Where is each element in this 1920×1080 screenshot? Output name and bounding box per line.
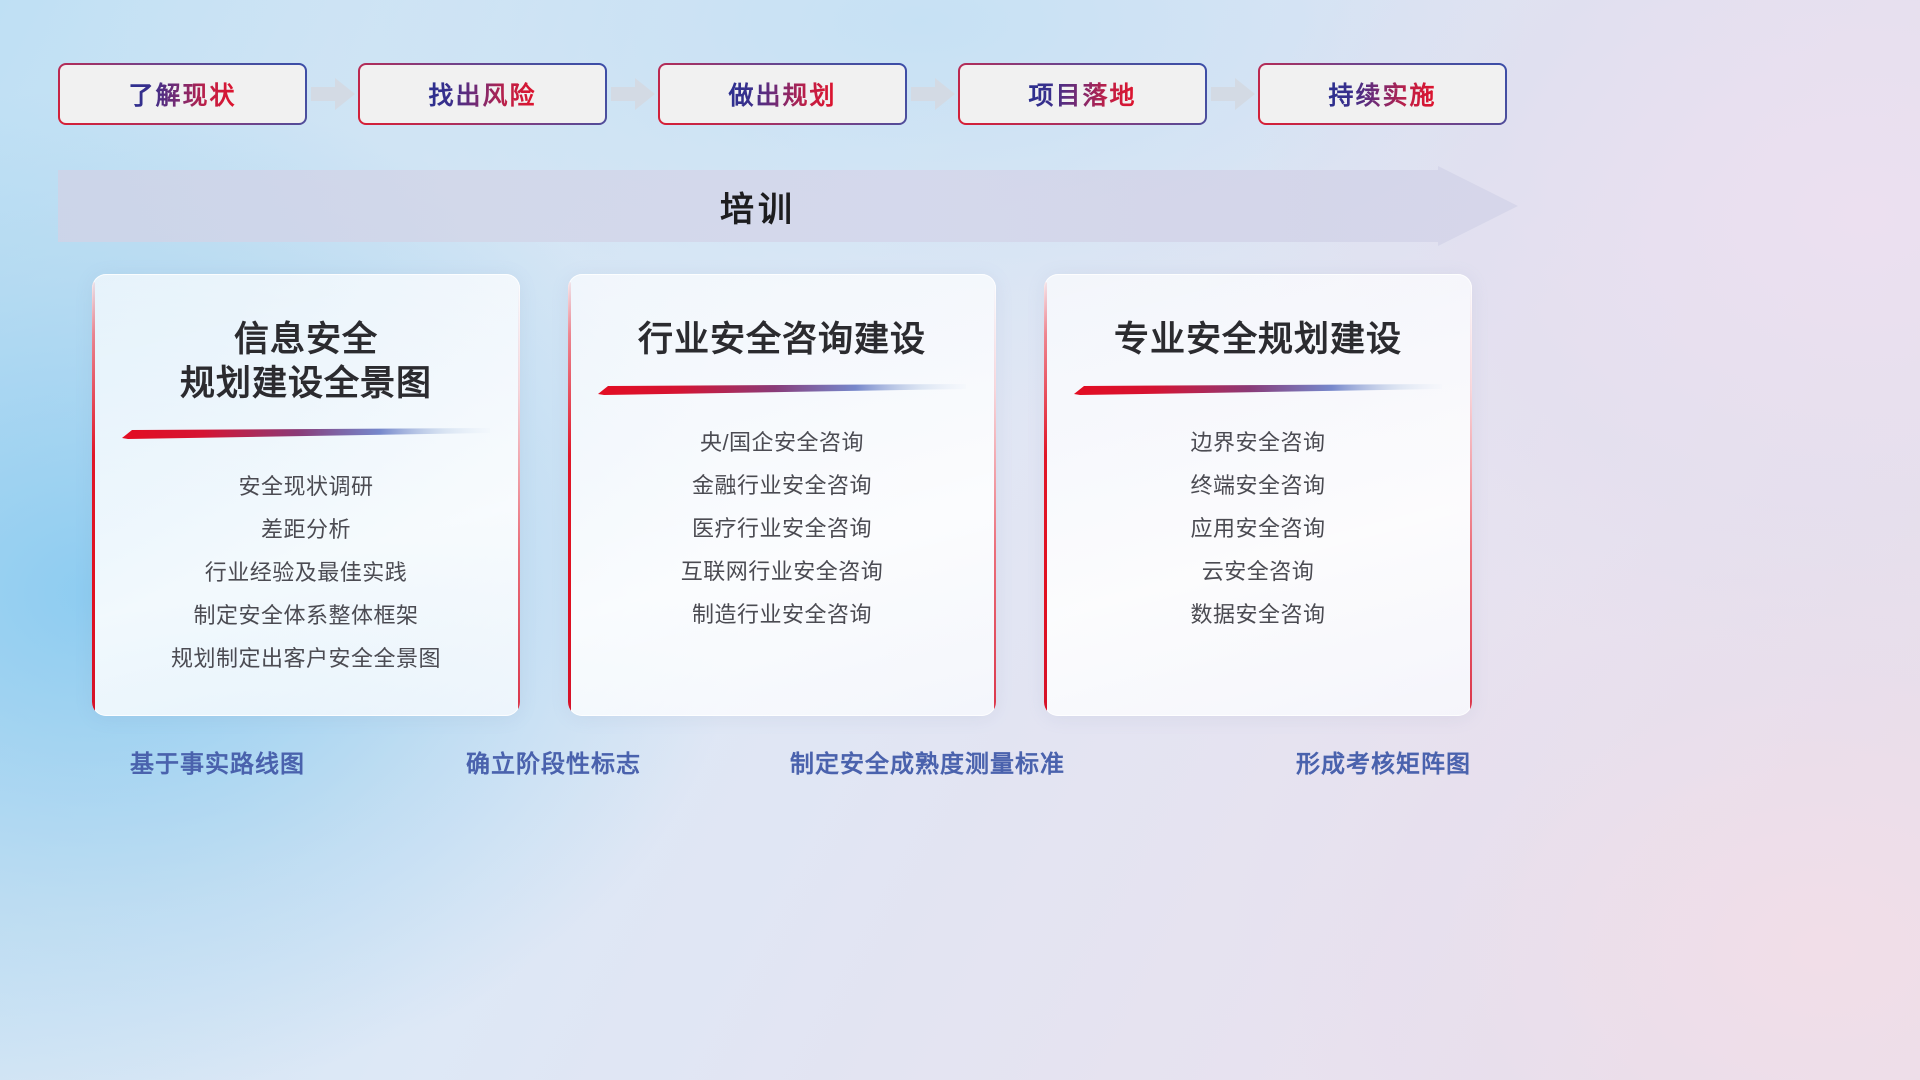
- stage-box-inner: 做出规划: [660, 65, 905, 123]
- chevron-right-arrow-icon: [1207, 63, 1258, 125]
- card-1[interactable]: 信息安全 规划建设全景图 安全现状调研 差距分析 行: [92, 274, 520, 716]
- footer-labels-row: 基于事实路线图 确立阶段性标志 制定安全成熟度测量标准 形成考核矩阵图: [0, 744, 1920, 792]
- training-banner: 培训: [58, 166, 1518, 246]
- list-item: 互联网行业安全咨询: [586, 551, 978, 594]
- chevron-right-arrow-icon: [607, 63, 658, 125]
- card-divider-icon: [598, 384, 966, 395]
- list-item: 央/国企安全咨询: [586, 422, 978, 465]
- footer-label-1: 基于事实路线图: [130, 744, 305, 779]
- training-label: 培训: [58, 166, 1458, 246]
- stage-box-5[interactable]: 持续实施: [1258, 63, 1507, 125]
- list-item: 医疗行业安全咨询: [586, 508, 978, 551]
- list-item: 制定安全体系整体框架: [110, 595, 502, 638]
- card-3[interactable]: 专业安全规划建设 边界安全咨询 终端安全咨询 应用安: [1044, 274, 1472, 716]
- stage-label: 做出规划: [728, 76, 836, 112]
- stage-label: 项目落地: [1028, 76, 1136, 112]
- list-item: 规划制定出客户安全全景图: [110, 638, 502, 681]
- stage-box-2[interactable]: 找出风险: [358, 63, 607, 125]
- chevron-right-arrow-icon: [907, 63, 958, 125]
- card-divider-icon: [122, 428, 490, 439]
- list-item: 行业经验及最佳实践: [110, 552, 502, 595]
- card-list: 安全现状调研 差距分析 行业经验及最佳实践 制定安全体系整体框架 规划制定出客户…: [92, 466, 520, 681]
- card-title: 行业安全咨询建设: [616, 318, 948, 362]
- stage-box-inner: 找出风险: [360, 65, 605, 123]
- stage-label: 找出风险: [428, 76, 536, 112]
- chevron-right-arrow-icon: [307, 63, 358, 125]
- cards-container: 信息安全 规划建设全景图 安全现状调研 差距分析 行: [92, 274, 1472, 716]
- stage-box-1[interactable]: 了解现状: [58, 63, 307, 125]
- list-item: 终端安全咨询: [1062, 465, 1454, 508]
- list-item: 边界安全咨询: [1062, 422, 1454, 465]
- stage-box-inner: 项目落地: [960, 65, 1205, 123]
- stage-flow-row: 了解现状 找出风险 做出规划 项目落地 持续实施: [58, 62, 1508, 126]
- list-item: 差距分析: [110, 509, 502, 552]
- stage-box-4[interactable]: 项目落地: [958, 63, 1207, 125]
- card-list: 边界安全咨询 终端安全咨询 应用安全咨询 云安全咨询 数据安全咨询: [1044, 422, 1472, 637]
- stage-box-inner: 持续实施: [1260, 65, 1505, 123]
- footer-label-3: 制定安全成熟度测量标准: [790, 744, 1065, 779]
- stage-box-inner: 了解现状: [60, 65, 305, 123]
- stage-label: 持续实施: [1328, 76, 1436, 112]
- card-title: 专业安全规划建设: [1092, 318, 1424, 362]
- card-list: 央/国企安全咨询 金融行业安全咨询 医疗行业安全咨询 互联网行业安全咨询 制造行…: [568, 422, 996, 637]
- list-item: 金融行业安全咨询: [586, 465, 978, 508]
- stage-label: 了解现状: [128, 76, 236, 112]
- list-item: 云安全咨询: [1062, 551, 1454, 594]
- card-2[interactable]: 行业安全咨询建设 央/国企安全咨询 金融行业安全咨询: [568, 274, 996, 716]
- list-item: 安全现状调研: [110, 466, 502, 509]
- list-item: 应用安全咨询: [1062, 508, 1454, 551]
- list-item: 制造行业安全咨询: [586, 594, 978, 637]
- list-item: 数据安全咨询: [1062, 594, 1454, 637]
- footer-label-2: 确立阶段性标志: [466, 744, 641, 779]
- footer-label-4: 形成考核矩阵图: [1296, 744, 1471, 779]
- stage-box-3[interactable]: 做出规划: [658, 63, 907, 125]
- card-title: 信息安全 规划建设全景图: [158, 318, 454, 406]
- card-divider-icon: [1074, 384, 1442, 395]
